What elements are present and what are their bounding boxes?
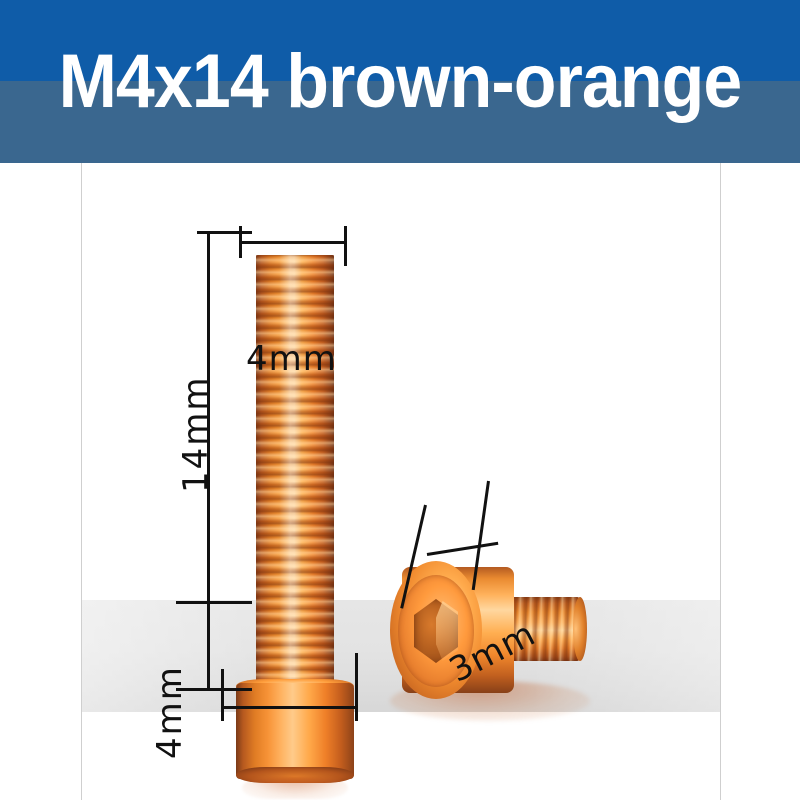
dim-4mm-top-ext-right — [344, 226, 347, 266]
dim-head-h-line — [207, 601, 210, 691]
dim-head-h-ext-top — [176, 601, 252, 604]
dim-head-height-label: 4mm — [150, 665, 190, 759]
dim-4mm-top-label: 4mm — [246, 339, 337, 379]
bolt-vertical — [236, 255, 354, 800]
dim-68mm-ext-right — [355, 653, 358, 721]
page-title: M4x14 brown-orange — [32, 40, 768, 124]
dim-14mm-ext-top — [197, 231, 252, 234]
title-banner: M4x14 brown-orange — [0, 0, 800, 163]
bolt-vertical-shaft-highlight — [256, 255, 334, 690]
dim-68mm-line — [221, 706, 358, 709]
photo-plate: 4mm 14mm 4mm 6.8mm 3mm This is single ba… — [0, 163, 800, 800]
product-image-card: M4x14 brown-orange — [0, 0, 800, 800]
dim-14mm-label: 14mm — [176, 375, 216, 493]
dim-4mm-top-line — [239, 241, 347, 244]
bolt-lying-shaft-end — [573, 597, 587, 661]
bolt-vertical-reflection — [242, 777, 348, 799]
bolt-vertical-head — [236, 683, 354, 779]
dim-68mm-ext-left — [221, 669, 224, 721]
plate-divider-right — [720, 163, 721, 800]
